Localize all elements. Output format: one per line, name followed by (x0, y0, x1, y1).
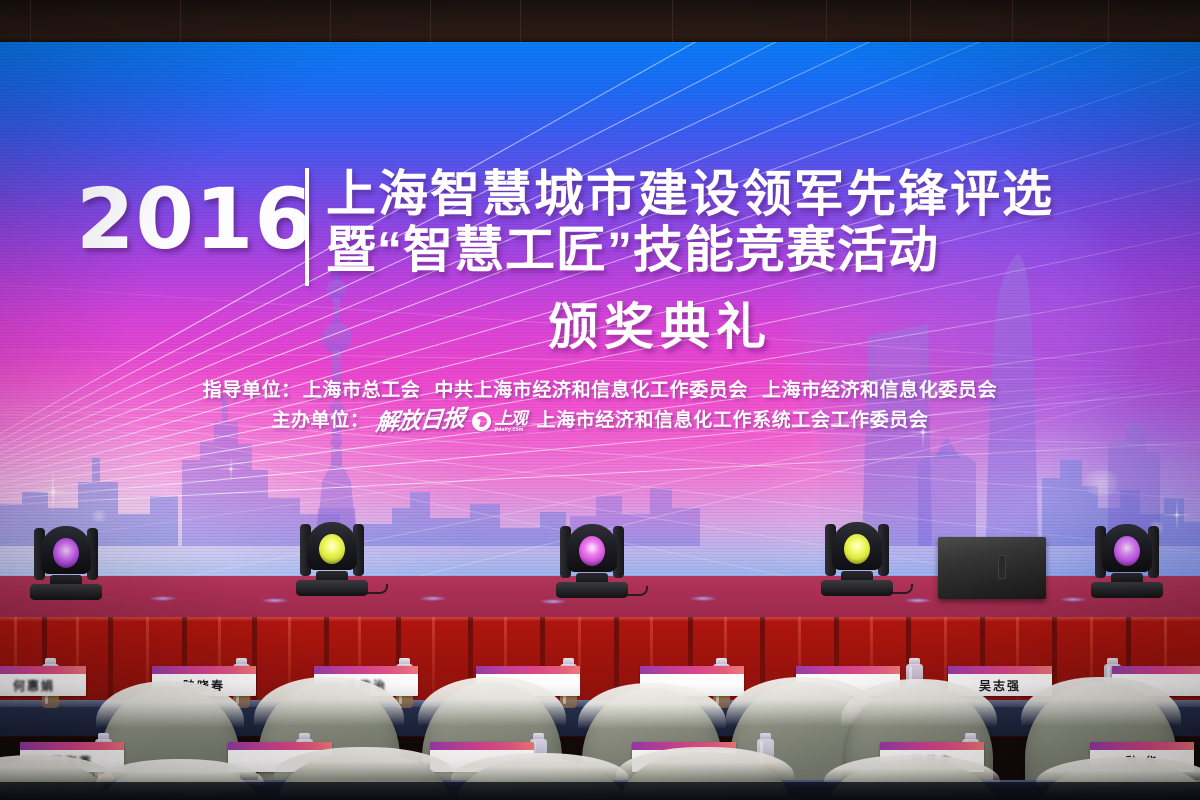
name-card: 何惠娟 (0, 666, 86, 696)
guidance-org-1: 上海市总工会 (303, 376, 421, 406)
poster-subhead: 颁奖典礼 (0, 287, 1200, 359)
poster-headline-line2: 暨“智慧工匠”技能竞赛活动 (326, 222, 1116, 278)
shangguan-logo-en: jfdaily.com (495, 428, 524, 433)
jiefang-daily-logo: 解放日报 (374, 404, 465, 439)
audience-seating-area: 何惠娟 陆晓春 沈传治 吴志强 王海燕 胡善志 魏 华 (0, 660, 1200, 800)
guidance-unit-row: 指导单位： 上海市总工会 中共上海市经济和信息化工作委员会 上海市经济和信息化委… (0, 376, 1200, 406)
light-lens (844, 534, 870, 564)
stage-scene: 2016 上海智慧城市建设领军先锋评选 暨“智慧工匠”技能竞赛活动 颁奖典礼 指… (0, 0, 1200, 800)
host-unit-label: 主办单位： (271, 406, 369, 436)
poster-headline: 上海智慧城市建设领军先锋评选 暨“智慧工匠”技能竞赛活动 (326, 166, 1116, 278)
moving-head-light-4 (815, 512, 899, 596)
light-lens (1114, 536, 1140, 566)
light-lens (319, 534, 345, 564)
stage-monitor-speaker (938, 537, 1046, 599)
poster-headline-line1: 上海智慧城市建设领军先锋评选 (326, 166, 1116, 222)
poster-year: 2016 (76, 170, 314, 268)
power-cable (364, 584, 388, 594)
power-cable (624, 586, 648, 596)
guidance-org-2: 中共上海市经济和信息化工作委员会 (434, 376, 748, 406)
guidance-org-3: 上海市经济和信息化委员会 (762, 376, 997, 406)
name-card-text: 何惠娟 (0, 674, 86, 696)
shangguan-logo-cn: 上观 (495, 410, 527, 427)
power-cable (889, 584, 913, 594)
moving-head-light-3 (550, 514, 634, 598)
poster-organizers: 指导单位： 上海市总工会 中共上海市经济和信息化工作委员会 上海市经济和信息化委… (0, 376, 1200, 436)
ring-mark-icon (472, 412, 491, 431)
hall-ceiling (0, 0, 1200, 44)
poster-text-layer: 2016 上海智慧城市建设领军先锋评选 暨“智慧工匠”技能竞赛活动 颁奖典礼 指… (0, 42, 1200, 576)
moving-head-light-2 (290, 512, 374, 596)
speaker-handle (998, 555, 1006, 579)
moving-head-light-1 (24, 516, 108, 600)
host-org-1: 上海市经济和信息化工作系统工会工作委员会 (537, 406, 929, 436)
moving-head-light-5 (1085, 514, 1169, 598)
light-lens (53, 538, 79, 568)
light-lens (579, 536, 605, 566)
host-unit-row: 主办单位： 解放日报 上观 jfdaily.com 上海市经济和信息化工作系统工… (0, 406, 1200, 436)
shangguan-logo: 上观 jfdaily.com (472, 410, 527, 433)
poster-divider (305, 168, 309, 286)
guidance-unit-label: 指导单位： (203, 376, 301, 406)
